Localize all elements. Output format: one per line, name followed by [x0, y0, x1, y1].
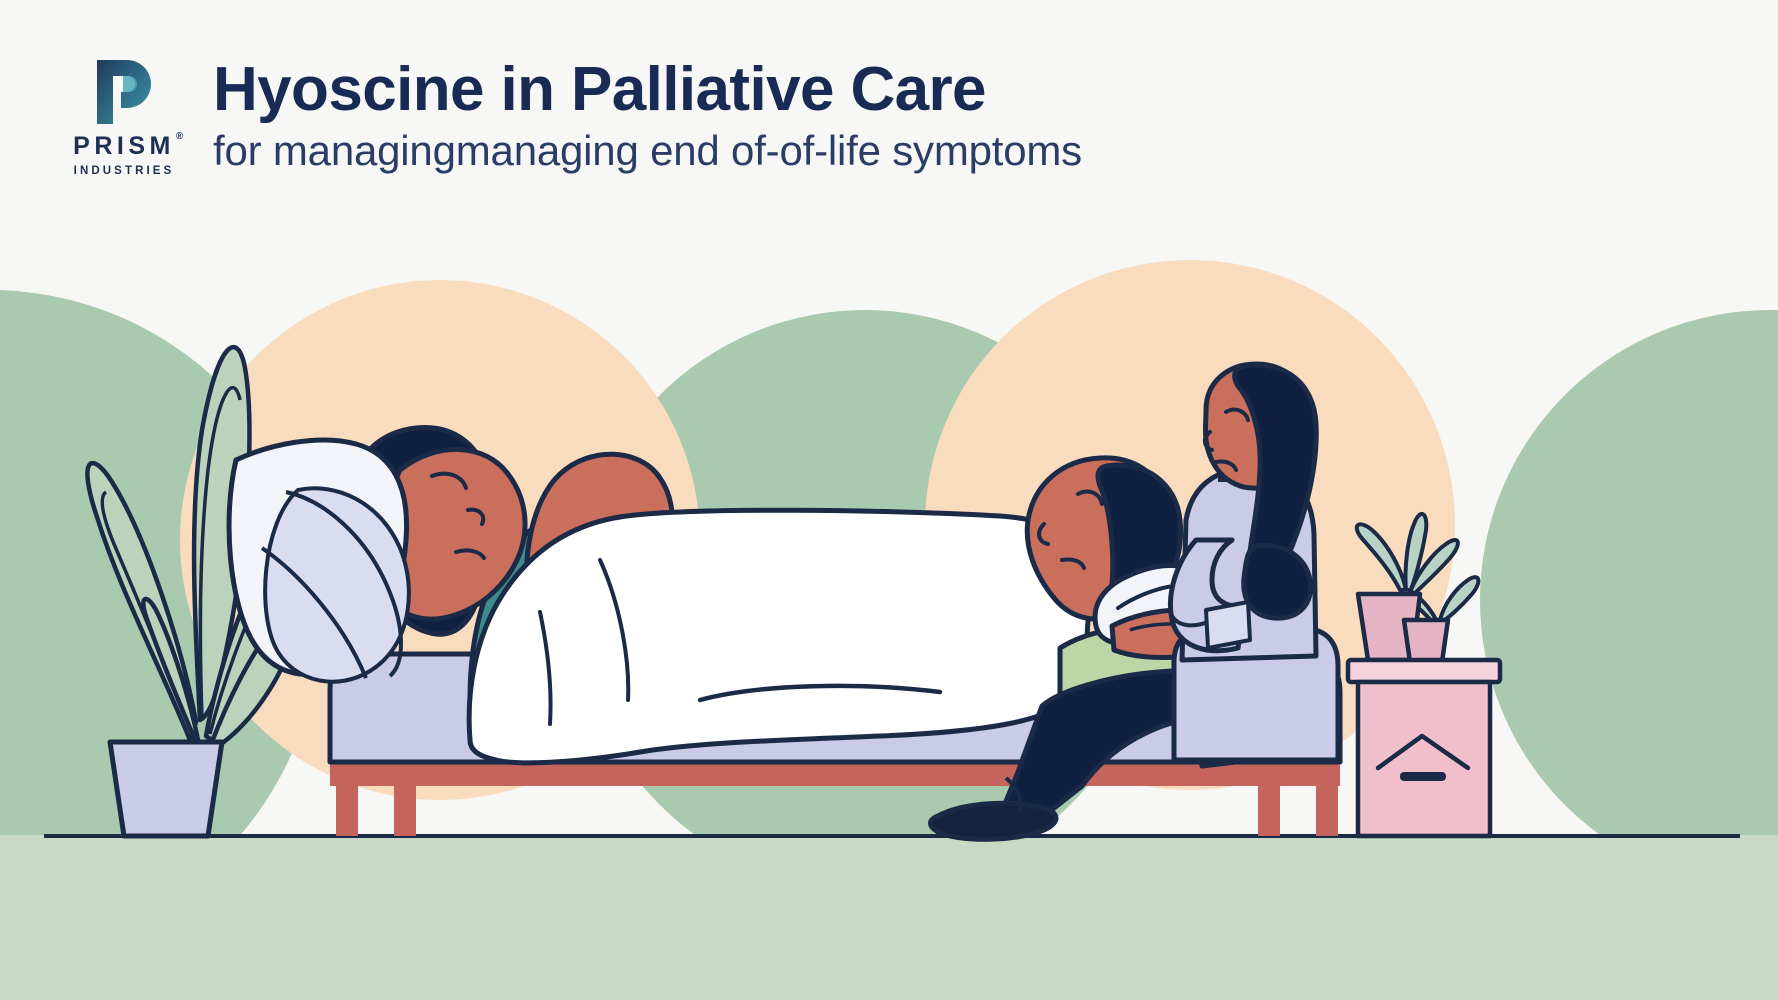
- bed-leg: [1258, 786, 1280, 836]
- poster-canvas: PRISM® INDUSTRIES Hyoscine in Palliative…: [0, 0, 1778, 1000]
- prism-p-monogram-icon: [93, 52, 155, 124]
- floor-band: [0, 835, 1778, 1000]
- title-block: Hyoscine in Palliative Care for managing…: [213, 58, 1753, 173]
- bed-leg: [1316, 786, 1338, 836]
- sheet-body: [469, 510, 1088, 763]
- brand-tagline: INDUSTRIES: [44, 166, 204, 178]
- nightstand-handle: [1400, 772, 1446, 781]
- nightstand-pot: [1404, 620, 1448, 662]
- nightstand-body: [1358, 682, 1490, 836]
- brand-lockup: PRISM® INDUSTRIES: [44, 52, 204, 178]
- bed-leg: [336, 786, 358, 836]
- registered-trademark-icon: ®: [176, 132, 188, 142]
- nightstand-top: [1348, 660, 1500, 682]
- caregiver-shoe: [931, 803, 1056, 839]
- header-bar: PRISM® INDUSTRIES Hyoscine in Palliative…: [0, 0, 1778, 225]
- page-title: Hyoscine in Palliative Care: [213, 58, 1753, 121]
- floor: [0, 835, 1778, 1000]
- page-subtitle: for managingmanaging end of-of-life symp…: [213, 129, 1753, 173]
- bed-leg: [394, 786, 416, 836]
- bed-sheet: [469, 510, 1088, 763]
- plant-pot: [110, 742, 222, 836]
- brand-name: PRISM®: [44, 134, 204, 159]
- caregiver-cuff: [1206, 602, 1250, 648]
